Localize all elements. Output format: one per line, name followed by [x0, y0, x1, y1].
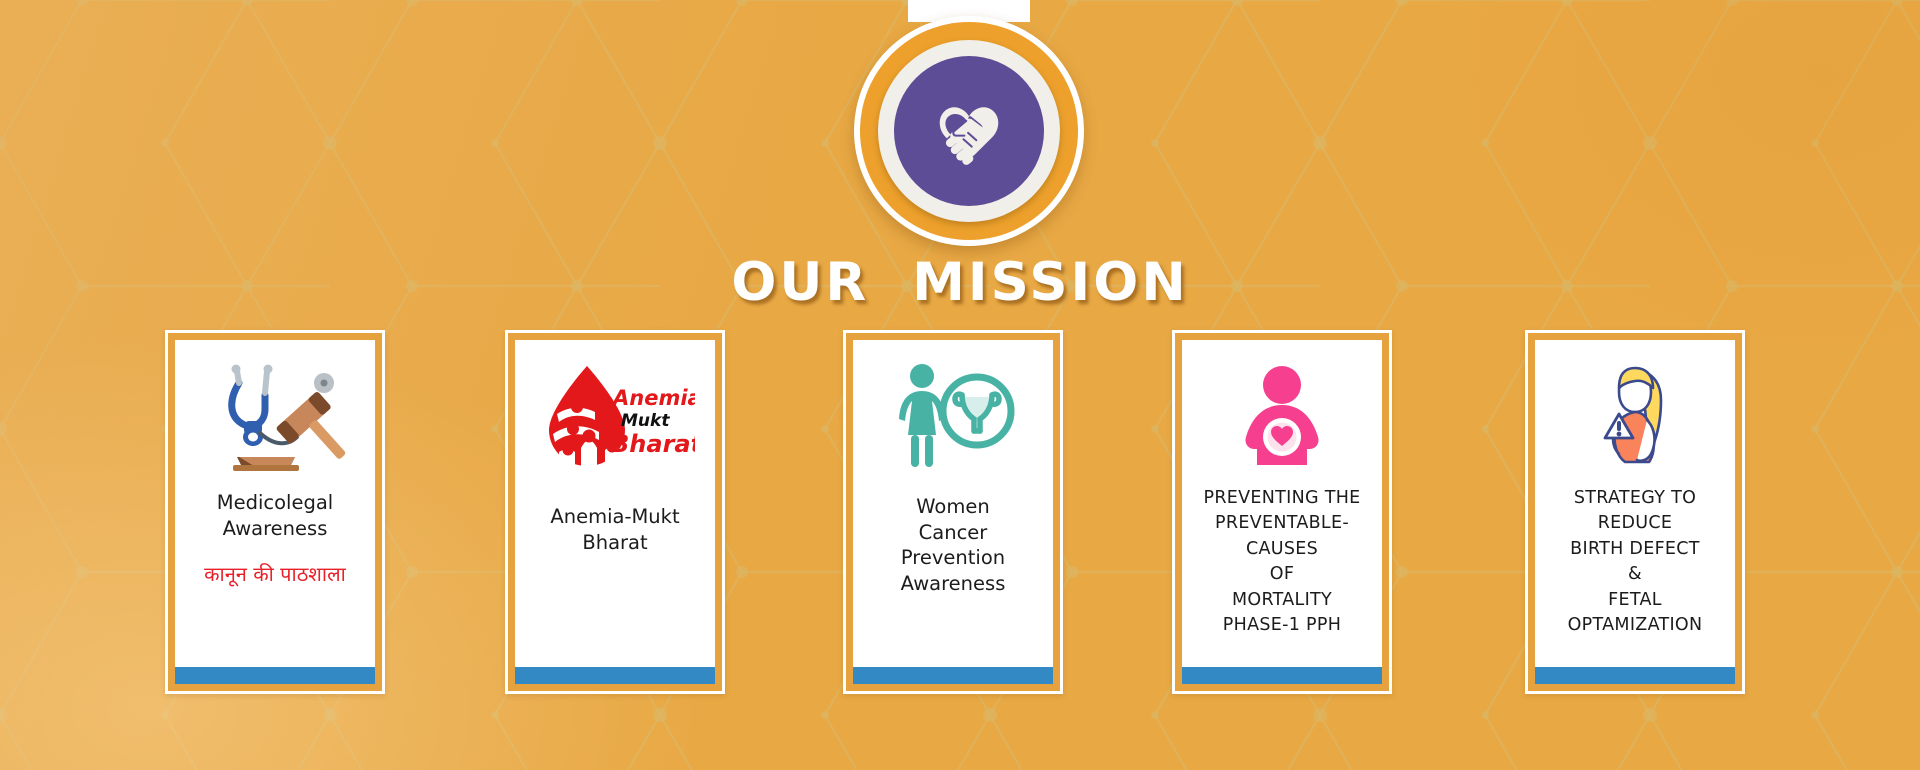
- card-title: STRATEGY TO REDUCE BIRTH DEFECT & FETAL …: [1568, 486, 1703, 638]
- logo-text-mukt: Mukt: [621, 411, 670, 431]
- card-text-block: Women Cancer Prevention Awareness: [853, 476, 1053, 684]
- mission-badge: [854, 16, 1084, 246]
- card-title: Women Cancer Prevention Awareness: [901, 494, 1006, 597]
- pregnant-woman-warning-icon: [1585, 362, 1685, 472]
- card-text-block: Anemia-Mukt Bharat: [515, 476, 715, 684]
- mission-card-preventing-preventable-mortality[interactable]: PREVENTING THE PREVENTABLE- CAUSES OF MO…: [1172, 330, 1392, 694]
- mission-card-women-cancer-prevention[interactable]: Women Cancer Prevention Awareness: [843, 330, 1063, 694]
- card-frame: STRATEGY TO REDUCE BIRTH DEFECT & FETAL …: [1528, 333, 1742, 691]
- card-text-block: Medicolegal Awareness कानून की पाठशाला: [175, 476, 375, 684]
- mission-card-strategy-reduce-birth-defect[interactable]: STRATEGY TO REDUCE BIRTH DEFECT & FETAL …: [1525, 330, 1745, 694]
- mission-card-medicolegal-awareness[interactable]: Medicolegal Awareness कानून की पाठशाला: [165, 330, 385, 694]
- card-text-block: STRATEGY TO REDUCE BIRTH DEFECT & FETAL …: [1535, 476, 1735, 684]
- card-frame: Women Cancer Prevention Awareness: [846, 333, 1060, 691]
- card-title: Anemia-Mukt Bharat: [550, 504, 679, 555]
- woman-uterus-icon: [888, 363, 1018, 471]
- mission-cards-row: Medicolegal Awareness कानून की पाठशाला: [0, 330, 1920, 695]
- card-accent-bar: [175, 667, 375, 684]
- card-subtitle-hindi: कानून की पाठशाला: [204, 561, 346, 587]
- card-accent-bar: [853, 667, 1053, 684]
- logo-text-anemia: Anemia: [611, 386, 695, 410]
- page-title: OUR MISSION: [0, 252, 1920, 313]
- card-frame: PREVENTING THE PREVENTABLE- CAUSES OF MO…: [1175, 333, 1389, 691]
- card-icon-container: Anemia Mukt Bharat: [535, 358, 695, 476]
- stethoscope-gavel-icon: [203, 361, 348, 473]
- anemia-mukt-bharat-logo-icon: Anemia Mukt Bharat: [535, 362, 695, 472]
- mission-card-anemia-mukt-bharat[interactable]: Anemia Mukt Bharat Anemia-Mukt Bharat: [505, 330, 725, 694]
- pregnant-woman-heart-icon: [1228, 365, 1336, 469]
- card-icon-container: [203, 358, 348, 476]
- badge-core: [894, 56, 1044, 206]
- card-accent-bar: [1535, 667, 1735, 684]
- logo-text-bharat: Bharat: [611, 430, 695, 458]
- card-frame: Medicolegal Awareness कानून की पाठशाला: [168, 333, 382, 691]
- card-accent-bar: [1182, 667, 1382, 684]
- handshake-heart-icon: [923, 85, 1015, 177]
- card-frame: Anemia Mukt Bharat Anemia-Mukt Bharat: [508, 333, 722, 691]
- card-accent-bar: [515, 667, 715, 684]
- card-icon-container: [1228, 358, 1336, 476]
- card-icon-container: [888, 358, 1018, 476]
- card-title: Medicolegal Awareness: [217, 490, 333, 541]
- card-icon-container: [1585, 358, 1685, 476]
- card-text-block: PREVENTING THE PREVENTABLE- CAUSES OF MO…: [1182, 476, 1382, 684]
- card-title: PREVENTING THE PREVENTABLE- CAUSES OF MO…: [1203, 486, 1360, 638]
